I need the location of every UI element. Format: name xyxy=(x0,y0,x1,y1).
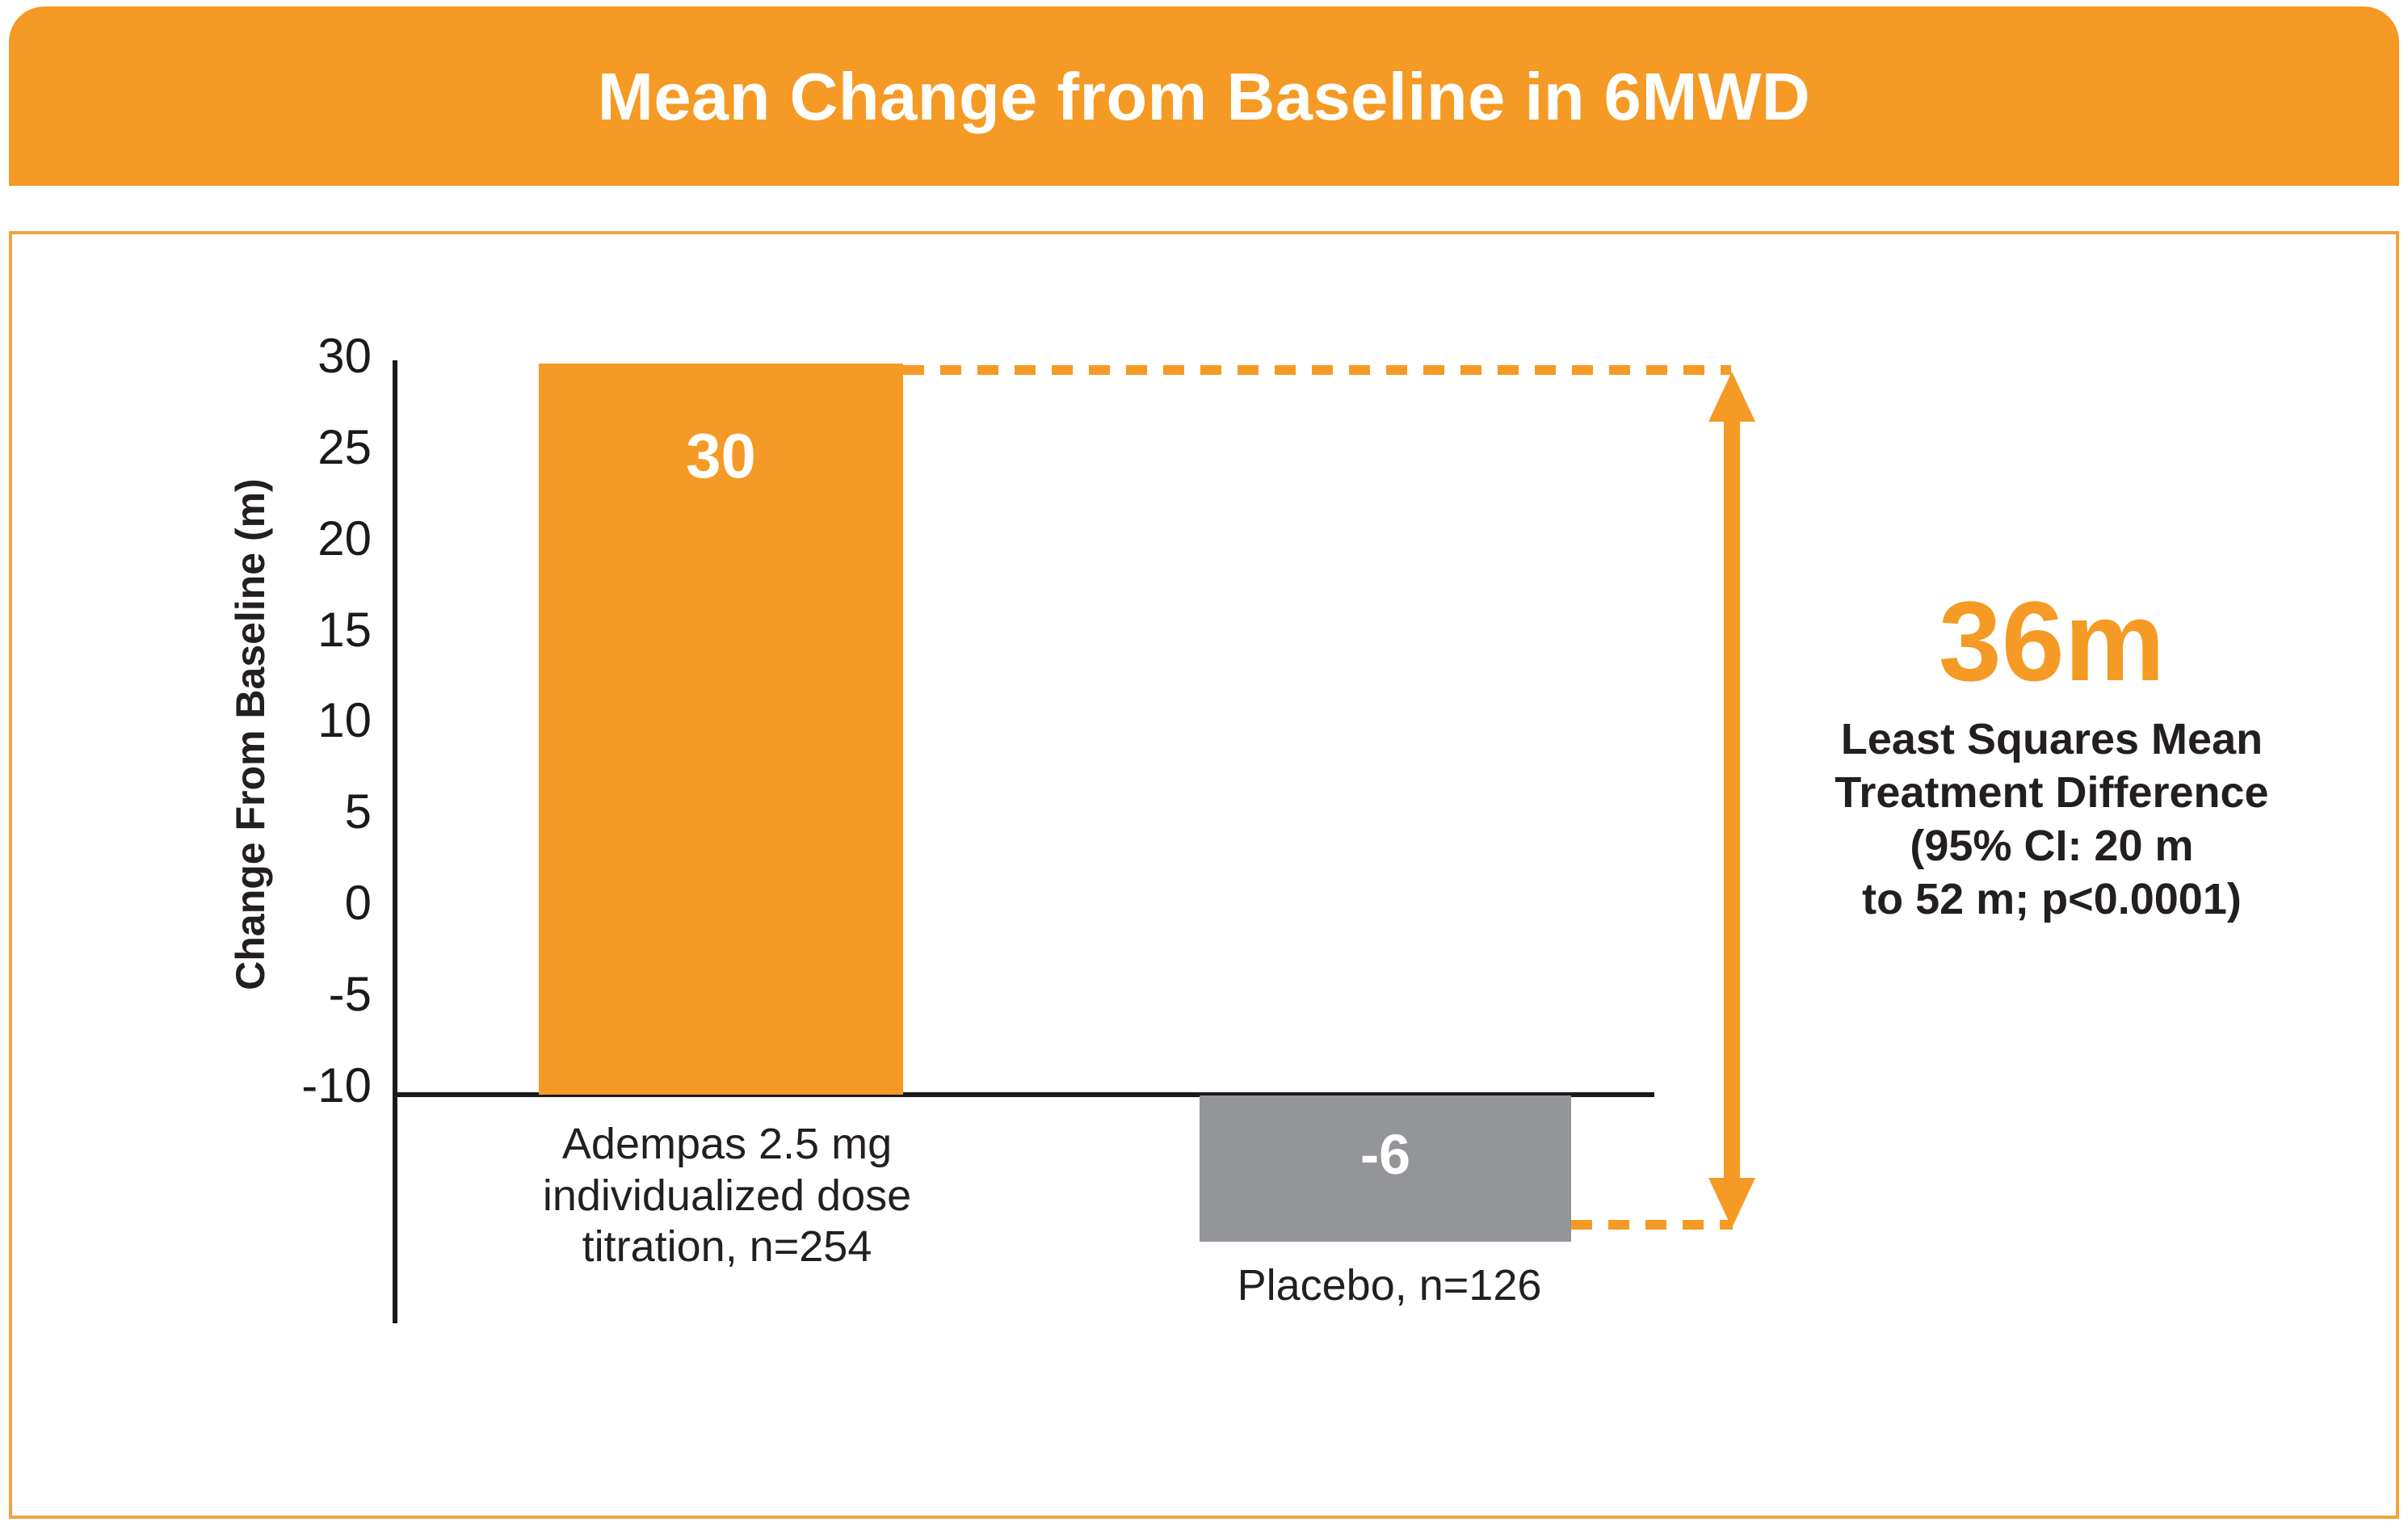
treatment-difference-line3: (95% CI: 20 m xyxy=(1801,820,2302,873)
y-tick-label-15: 15 xyxy=(129,606,372,654)
y-tick-label-5: 5 xyxy=(129,788,372,836)
treatment-difference-annotation: 36m Least Squares Mean Treatment Differe… xyxy=(1801,582,2302,927)
y-tick-label-0: 0 xyxy=(129,879,372,927)
arrow-shaft xyxy=(1724,412,1740,1188)
bar-value-label-adempas: 30 xyxy=(539,424,903,487)
y-tick-label-20: 20 xyxy=(129,515,372,563)
y-tick-label-neg5: -5 xyxy=(129,970,372,1019)
arrow-head-down-icon xyxy=(1708,1178,1755,1228)
category-label-placebo-line1: Placebo, n=126 xyxy=(1163,1260,1616,1312)
y-axis-line xyxy=(393,360,397,1323)
page-title: Mean Change from Baseline in 6MWD xyxy=(598,63,1811,130)
treatment-difference-line4: to 52 m; p<0.0001) xyxy=(1801,873,2302,927)
treatment-difference-line1: Least Squares Mean xyxy=(1801,713,2302,767)
y-tick-label-10: 10 xyxy=(129,696,372,745)
treatment-difference-line2: Treatment Difference xyxy=(1801,767,2302,820)
category-label-placebo: Placebo, n=126 xyxy=(1163,1260,1616,1312)
category-label-adempas-line1: Adempas 2.5 mg xyxy=(485,1119,969,1171)
category-label-adempas: Adempas 2.5 mg individualized dose titra… xyxy=(485,1119,969,1273)
treatment-difference-value: 36m xyxy=(1801,582,2302,700)
chart-page: Mean Change from Baseline in 6MWD Change… xyxy=(0,0,2408,1539)
category-label-adempas-line2: individualized dose xyxy=(485,1171,969,1222)
y-tick-label-neg10: -10 xyxy=(129,1062,372,1110)
bar-value-label-placebo: -6 xyxy=(1200,1126,1571,1183)
chart-header-banner: Mean Change from Baseline in 6MWD xyxy=(9,6,2399,186)
dashed-connector-top xyxy=(903,365,1731,375)
y-tick-label-25: 25 xyxy=(129,423,372,472)
y-tick-label-30: 30 xyxy=(129,332,372,381)
category-label-adempas-line3: titration, n=254 xyxy=(485,1222,969,1273)
treatment-difference-arrow xyxy=(1691,372,1775,1228)
treatment-difference-description: Least Squares Mean Treatment Difference … xyxy=(1801,713,2302,927)
